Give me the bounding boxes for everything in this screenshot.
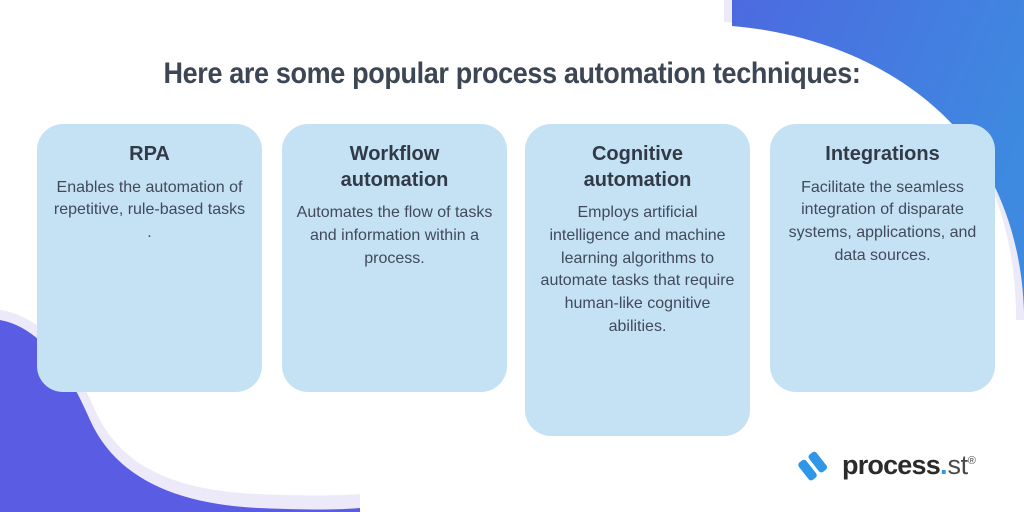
card-heading: Integrations (784, 142, 981, 168)
brand-logo: process.st® (797, 448, 976, 482)
technique-card-integrations: Integrations Facilitate the seamless int… (770, 124, 995, 392)
technique-card-workflow-automation: Workflow automation Automates the flow o… (282, 124, 507, 392)
logo-wordmark: process.st® (842, 452, 976, 479)
process-st-logo-icon (797, 448, 831, 482)
card-heading: Workflow automation (296, 142, 493, 193)
card-heading: Cognitive automation (539, 142, 736, 193)
card-body: Automates the flow of tasks and informat… (296, 202, 493, 270)
page-title: Here are some popular process automation… (51, 57, 973, 91)
card-heading: RPA (51, 142, 248, 168)
registered-trademark-symbol: ® (968, 455, 976, 467)
logo-word-process: process (842, 450, 940, 480)
logo-word-st: st (947, 450, 967, 480)
card-body: Enables the automation of repetitive, ru… (51, 177, 248, 245)
card-body: Employs artificial intelligence and mach… (539, 202, 736, 338)
technique-card-cognitive-automation: Cognitive automation Employs artificial … (525, 124, 750, 436)
card-body: Facilitate the seamless integration of d… (784, 177, 981, 268)
technique-card-rpa: RPA Enables the automation of repetitive… (37, 124, 262, 392)
infographic-canvas: Here are some popular process automation… (0, 0, 1024, 512)
